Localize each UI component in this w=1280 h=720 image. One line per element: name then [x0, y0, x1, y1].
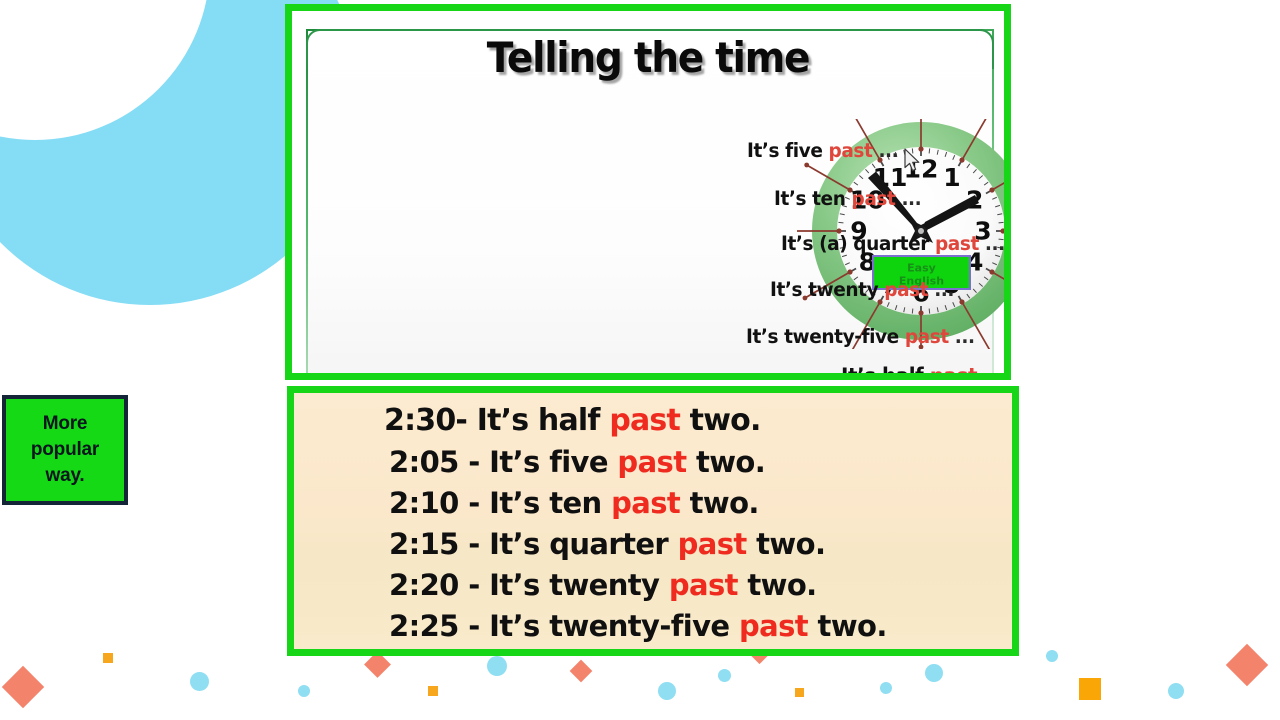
annotation-suffix: ... [895, 187, 921, 210]
example-suffix: two. [686, 445, 765, 479]
example-line: 2:05 - It’s five past two. [389, 445, 765, 479]
examples-list: 2:30- It’s half past two. 2:05 - It’s fi… [294, 393, 1012, 649]
annotation-ten-past: It’s ten past ... [774, 187, 921, 210]
clock-number-1: 1 [943, 163, 960, 192]
confetti-diamond [570, 660, 593, 683]
annotation-suffix: ... [977, 364, 1005, 380]
annotation-prefix: It’s ten [774, 187, 851, 210]
example-prefix: It’s half [467, 403, 609, 438]
blue-arc-inner-cutout [0, 0, 210, 140]
annotation-suffix: ... [928, 278, 954, 301]
past-keyword: past [678, 527, 747, 561]
confetti-circle [487, 656, 507, 676]
annotation-half-past: It’s half past ... [841, 364, 1005, 380]
slide-stage: More popular way. Telling the time [0, 0, 1280, 720]
more-popular-way-callout: More popular way. [2, 395, 128, 505]
annotation-twenty-past: It’s twenty past ... [770, 278, 954, 301]
annotation-prefix: It’s five [747, 139, 828, 162]
example-suffix: two. [808, 609, 887, 643]
past-keyword: past [739, 609, 808, 643]
example-prefix: It’s five [480, 445, 618, 479]
examples-panel: 2:30- It’s half past two. 2:05 - It’s fi… [287, 386, 1019, 656]
watermark-line-1: Easy [907, 262, 936, 275]
confetti-circle [190, 672, 209, 691]
confetti-circle [880, 682, 892, 694]
past-keyword: past [669, 568, 738, 602]
clock-slide-panel: Telling the time [285, 4, 1011, 380]
annotation-prefix: It’s half [841, 364, 930, 380]
annotation-five-past: It’s five past ... [747, 139, 898, 162]
example-suffix: two. [680, 486, 759, 520]
example-line: 2:10 - It’s ten past two. [389, 486, 759, 520]
example-time: 2:30- [384, 403, 467, 438]
example-line: 2:25 - It’s twenty-five past two. [389, 609, 887, 643]
annotation-suffix: ... [872, 139, 898, 162]
more-popular-way-text: More popular way. [31, 411, 99, 490]
confetti-circle [718, 669, 731, 682]
confetti-square [795, 688, 804, 697]
annotation-prefix: It’s twenty-five [746, 325, 905, 348]
annotation-prefix: It’s (a) quarter [781, 232, 935, 255]
page-title: Telling the time [317, 33, 979, 82]
confetti-circle [1168, 683, 1184, 699]
example-line: 2:15 - It’s quarter past two. [389, 527, 825, 561]
example-line: 2:20 - It’s twenty past two. [389, 568, 817, 602]
more-popular-line-1: More [31, 411, 99, 437]
example-time: 2:20 - [389, 568, 480, 602]
confetti-square [428, 686, 438, 696]
example-suffix: two. [680, 403, 761, 438]
confetti-square [1079, 678, 1101, 700]
example-time: 2:15 - [389, 527, 480, 561]
past-keyword: past [905, 325, 949, 348]
past-keyword: past [851, 187, 895, 210]
annotation-suffix: ... [979, 232, 1005, 255]
confetti-diamond [2, 666, 44, 708]
annotation-quarter-past: It’s (a) quarter past ... [781, 232, 1005, 255]
confetti-diamond [1226, 644, 1268, 686]
clock-number-12: 12 [904, 155, 939, 184]
annotation-prefix: It’s twenty [770, 278, 884, 301]
confetti-circle [925, 664, 943, 682]
example-prefix: It’s quarter [480, 527, 678, 561]
example-time: 2:05 - [389, 445, 480, 479]
past-keyword: past [884, 278, 928, 301]
confetti-circle [298, 685, 310, 697]
past-keyword: past [611, 486, 680, 520]
example-time: 2:10 - [389, 486, 480, 520]
example-time: 2:25 - [389, 609, 480, 643]
example-prefix: It’s ten [480, 486, 611, 520]
confetti-circle [1046, 650, 1058, 662]
more-popular-line-2: popular [31, 437, 99, 463]
annotation-suffix: ... [949, 325, 975, 348]
confetti-circle [658, 682, 676, 700]
more-popular-line-3: way. [31, 463, 99, 489]
past-keyword: past [935, 232, 979, 255]
past-keyword: past [617, 445, 686, 479]
example-suffix: two. [738, 568, 817, 602]
past-keyword: past [828, 139, 872, 162]
annotation-twenty-five-past: It’s twenty-five past ... [746, 325, 975, 348]
example-line: 2:30- It’s half past two. [384, 403, 761, 438]
confetti-square [103, 653, 113, 663]
example-prefix: It’s twenty [480, 568, 669, 602]
example-suffix: two. [747, 527, 826, 561]
past-keyword: past [609, 403, 680, 438]
example-prefix: It’s twenty-five [480, 609, 739, 643]
past-keyword: past [930, 364, 977, 380]
